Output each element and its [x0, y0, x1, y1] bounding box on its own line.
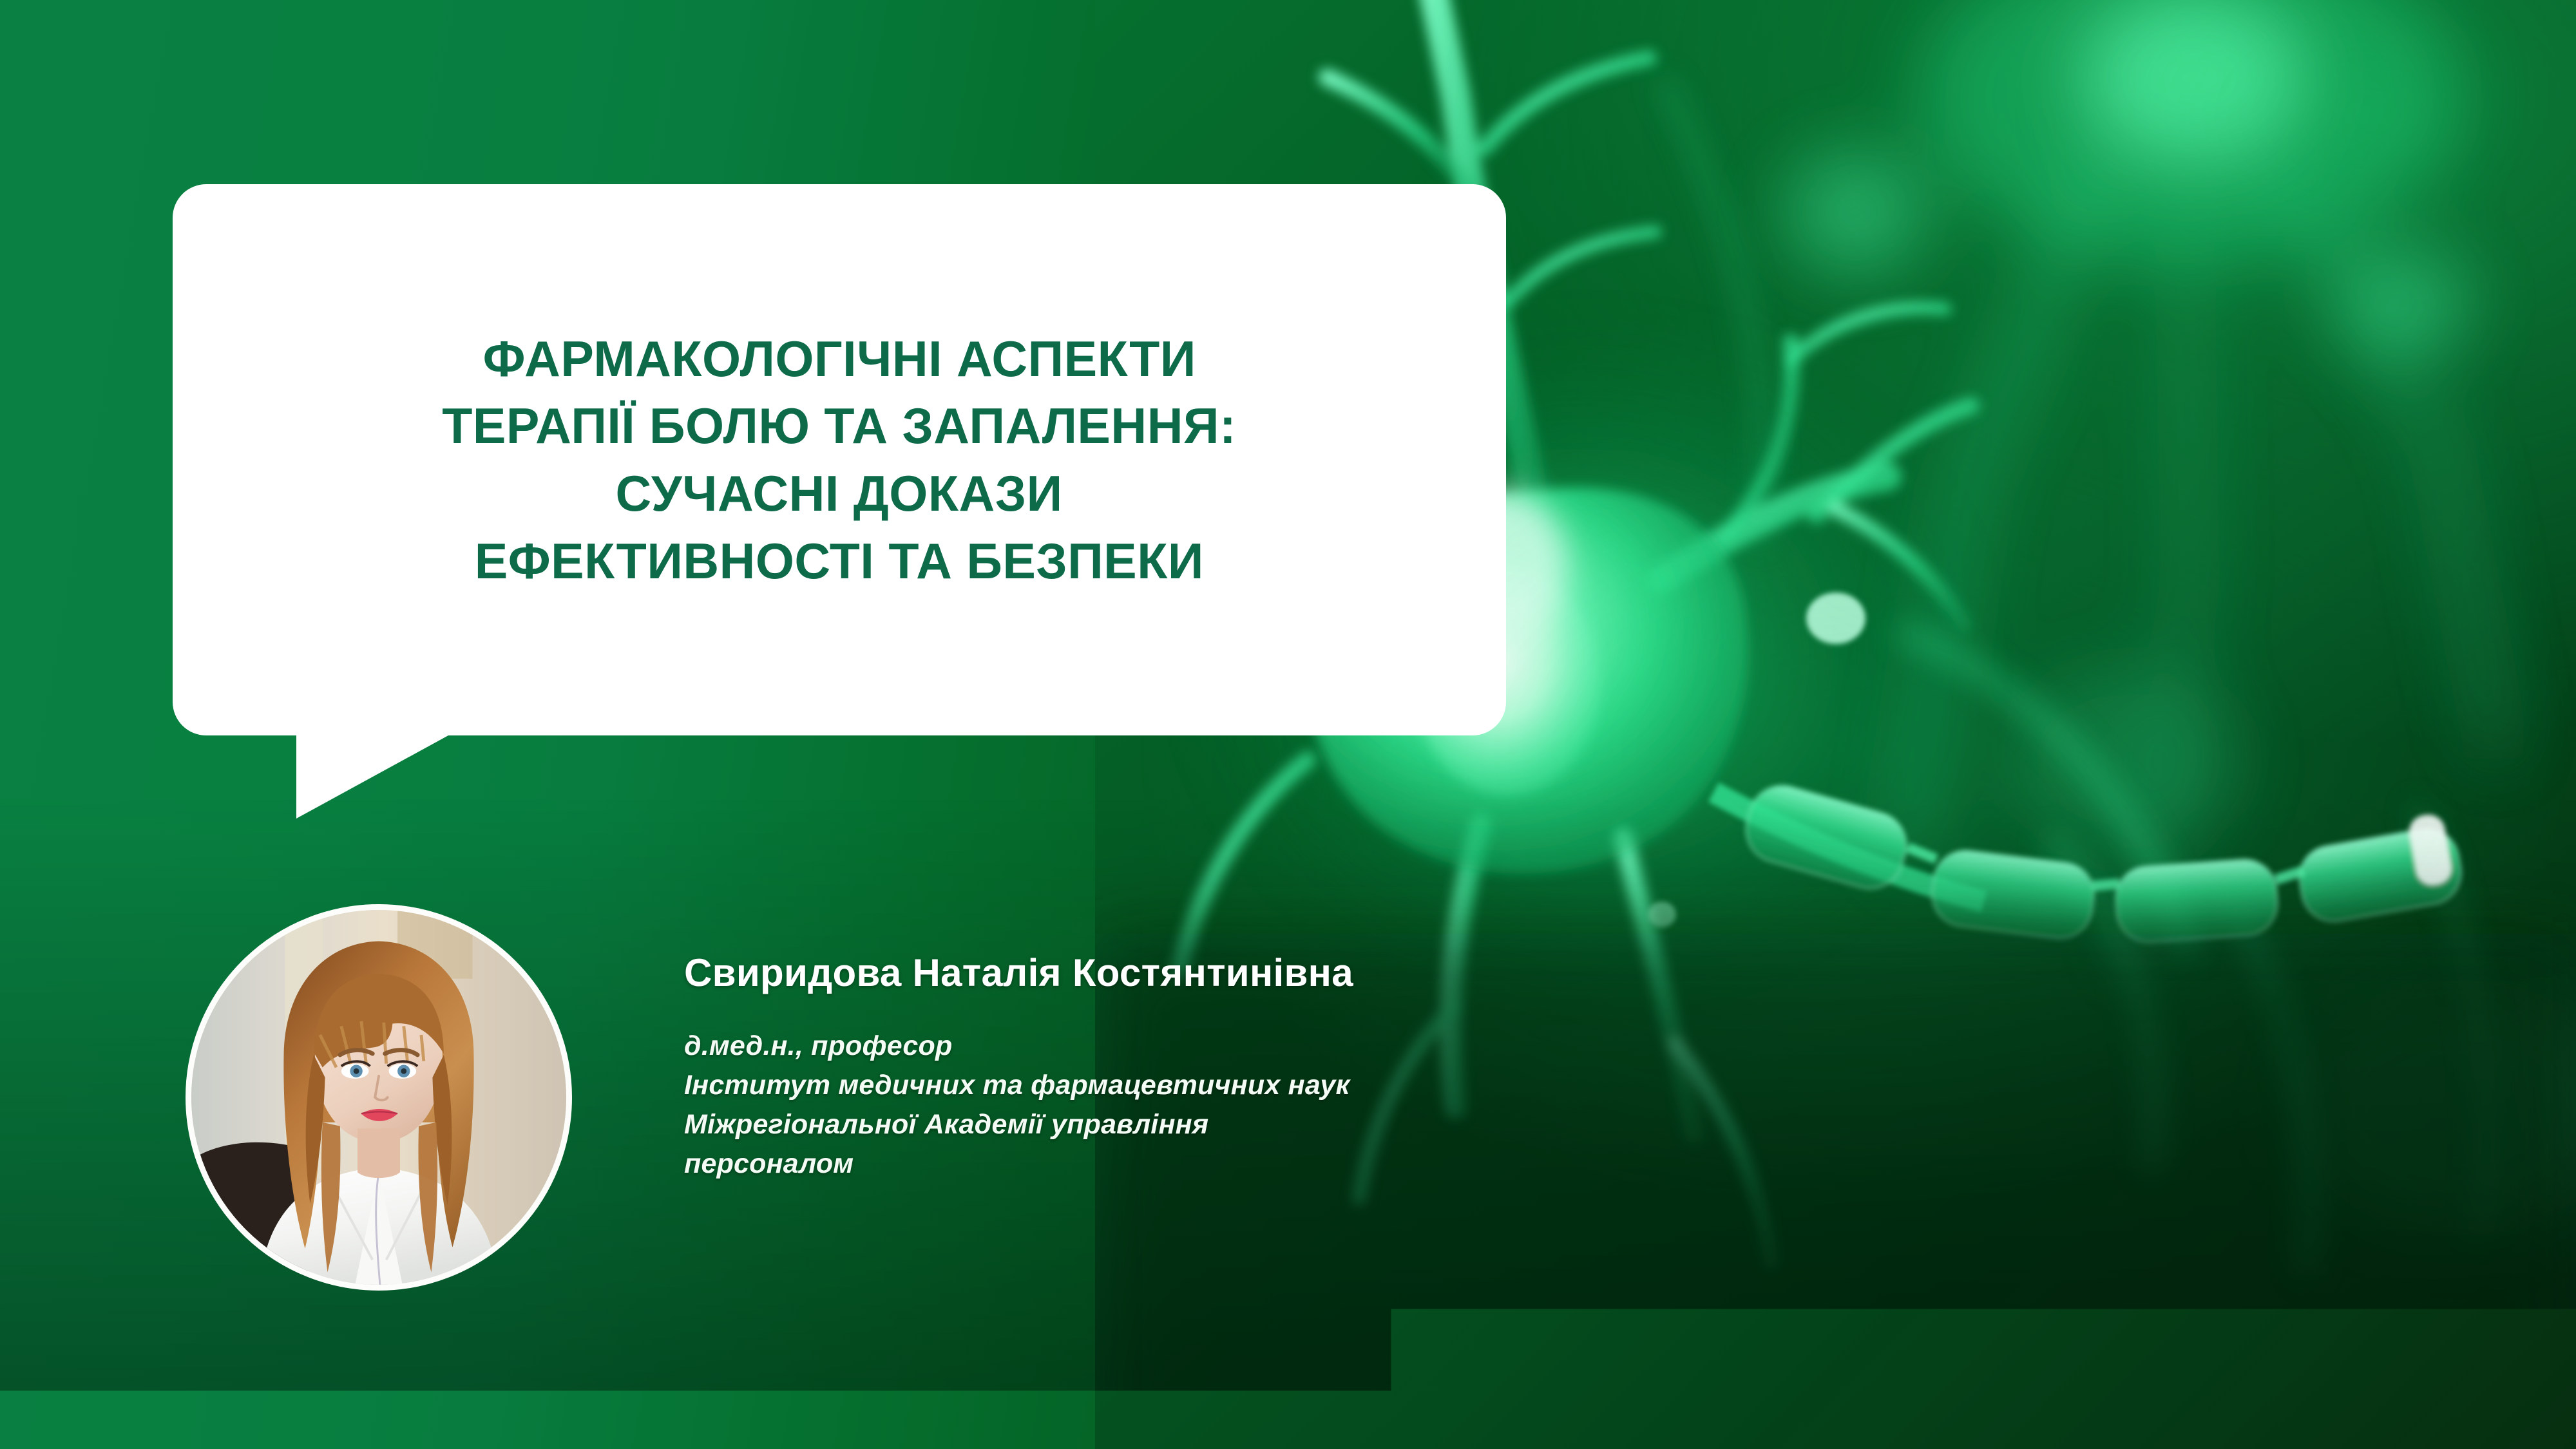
title-line-1: ФАРМАКОЛОГІЧНІ АСПЕКТИ — [482, 325, 1196, 393]
title-line-2: ТЕРАПІЇ БОЛЮ ТА ЗАПАЛЕННЯ: — [443, 392, 1237, 460]
credential-line-1: д.мед.н., професор — [684, 1027, 1972, 1066]
speaker-credentials: д.мед.н., професор Інститут медичних та … — [684, 1027, 1972, 1184]
title-speech-bubble: ФАРМАКОЛОГІЧНІ АСПЕКТИ ТЕРАПІЇ БОЛЮ ТА З… — [173, 184, 1506, 819]
credential-line-4: персоналом — [684, 1144, 1972, 1184]
speaker-info: Свиридова Наталія Костянтинівна д.мед.н.… — [684, 952, 1972, 1184]
title-slide: ФАРМАКОЛОГІЧНІ АСПЕКТИ ТЕРАПІЇ БОЛЮ ТА З… — [0, 0, 2576, 1449]
title-line-3: СУЧАСНІ ДОКАЗИ — [616, 460, 1063, 527]
avatar — [186, 904, 572, 1291]
credential-line-3: Міжрегіональної Академії управління — [684, 1105, 1972, 1144]
credential-line-2: Інститут медичних та фармацевтичних наук — [684, 1066, 1972, 1105]
title-block: ФАРМАКОЛОГІЧНІ АСПЕКТИ ТЕРАПІЇ БОЛЮ ТА З… — [173, 184, 1506, 735]
speaker-name: Свиридова Наталія Костянтинівна — [684, 952, 1972, 994]
title-line-4: ЕФЕКТИВНОСТІ ТА БЕЗПЕКИ — [475, 527, 1204, 595]
